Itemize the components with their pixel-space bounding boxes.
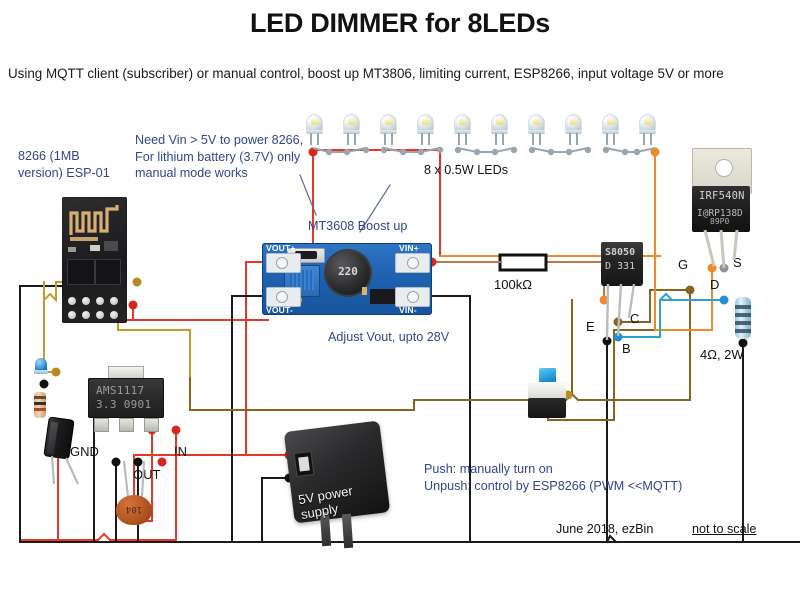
- ceramic-capacitor-104: 104: [116, 495, 152, 529]
- mosfet-leads: [692, 230, 750, 270]
- inductor-code: 220: [326, 265, 370, 278]
- pcb-antenna-icon: [69, 203, 119, 237]
- boost-terminal-vout-minus: VOUT-: [266, 305, 293, 315]
- label-resistor-100k: 100kΩ: [494, 276, 532, 293]
- wire-orange-group: [440, 152, 712, 330]
- usb-port-icon: [294, 451, 315, 477]
- s8050-transistor: S8050 D 331: [601, 242, 643, 290]
- resistor-body: [735, 297, 751, 339]
- label-pin-gate: G: [678, 256, 688, 273]
- boost-terminal-vin-minus: VIN-: [399, 305, 417, 315]
- led-1: [306, 115, 323, 145]
- irf540n-mosfet: IRF540N I@RP138D 89P0: [692, 148, 750, 260]
- resistor-100k-symbol: [486, 255, 546, 270]
- button-base: [528, 398, 566, 418]
- disc-cap-body: 104: [116, 495, 152, 525]
- led-series-resistor: [34, 392, 46, 418]
- mt3608-boost-module: 220 VOUT+ VOUT- VIN+ VIN-: [262, 243, 432, 315]
- label-pin-in: IN: [174, 443, 187, 460]
- ams1117-regulator: AMS1117 3.3 0901: [88, 378, 164, 430]
- boost-terminal-vout-plus: VOUT+: [266, 243, 296, 253]
- mounting-hole-icon: [715, 159, 733, 177]
- capacitor-leads: [44, 454, 84, 488]
- mosfet-marking-line1: IRF540N: [699, 190, 745, 202]
- annotation-adjust-vout: Adjust Vout, upto 28V: [328, 329, 449, 346]
- annotation-button-note: Push: manually turn on Unpush: control b…: [424, 461, 682, 494]
- gate-resistor-4ohm: [735, 297, 751, 343]
- push-button[interactable]: [525, 368, 571, 420]
- boost-terminal-vin-plus: VIN+: [399, 243, 419, 253]
- indicator-led: [34, 358, 48, 384]
- regulator-marking-line2: 3.3 0901: [96, 398, 151, 411]
- mosfet-body: IRF540N I@RP138D 89P0: [692, 186, 750, 232]
- led-7: [528, 115, 545, 145]
- label-resistor-4ohm: 4Ω, 2W: [700, 346, 744, 363]
- esp01-module: [62, 197, 127, 323]
- annotation-vin-note: Need Vin > 5V to power 8266, For lithium…: [135, 132, 303, 182]
- led-3: [380, 115, 397, 145]
- led-2: [343, 115, 360, 145]
- boost-ic-icon: [370, 289, 396, 304]
- credit-text: June 2018, ezBin: [556, 521, 653, 538]
- transistor-marking-line2: D 331: [605, 261, 635, 272]
- led-9: [602, 115, 619, 145]
- disc-cap-leads: [118, 461, 150, 499]
- label-pin-base: B: [622, 340, 631, 357]
- annotation-esp-module: 8266 (1MB version) ESP-01: [18, 148, 110, 181]
- scale-note: not to scale: [692, 521, 756, 538]
- led-4: [417, 115, 434, 145]
- power-supply-adapter: 5V power supply: [285, 420, 395, 550]
- transistor-body: S8050 D 331: [601, 242, 643, 286]
- led-8: [565, 115, 582, 145]
- circuit-diagram-canvas: LED DIMMER for 8LEDs Using MQTT client (…: [0, 0, 800, 606]
- transistor-leads: [601, 284, 643, 342]
- led-5: [454, 115, 471, 145]
- regulator-marking-line1: AMS1117: [96, 384, 144, 397]
- label-pin-emitter: E: [586, 318, 595, 335]
- annotation-boost-label: MT3608 Boost up: [308, 218, 407, 235]
- transistor-marking-line1: S8050: [605, 247, 635, 258]
- annotation-led-count: 8 x 0.5W LEDs: [424, 162, 508, 179]
- electrolytic-capacitor: [46, 418, 72, 462]
- mosfet-marking-line3: 89P0: [710, 217, 729, 226]
- led-6: [491, 115, 508, 145]
- led-10: [639, 115, 656, 145]
- disc-cap-marking: 104: [116, 504, 152, 514]
- label-pin-drain: D: [710, 276, 719, 293]
- regulator-body: AMS1117 3.3 0901: [88, 378, 164, 418]
